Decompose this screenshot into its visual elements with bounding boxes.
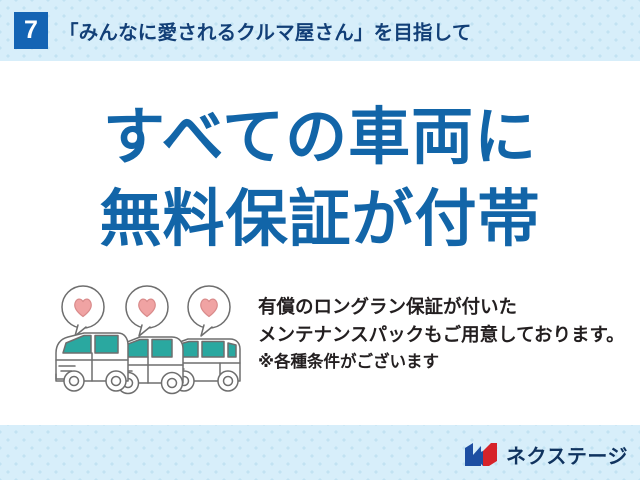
cars-svg: [48, 283, 248, 399]
hero-line-1: すべての車両に: [0, 97, 640, 179]
supporting-copy: 有償のロングラン保証が付いた メンテナンスパックもご用意しております。 ※各種条…: [258, 293, 630, 376]
brand-logo: ネクステージ: [464, 438, 628, 470]
hero-headline: すべての車両に 無料保証が付帯: [0, 97, 640, 261]
brand-name: ネクステージ: [506, 440, 628, 469]
feature-row: 有償のロングラン保証が付いた メンテナンスパックもご用意しております。 ※各種条…: [0, 283, 640, 403]
heart-speech-bubble-1: [62, 286, 104, 336]
copy-line-2: メンテナンスパックもご用意しております。: [258, 321, 630, 349]
copy-note: ※各種条件がございます: [258, 349, 630, 376]
header: 7 「みんなに愛されるクルマ屋さん」を目指して: [0, 0, 640, 61]
content-panel: すべての車両に 無料保証が付帯: [0, 61, 640, 425]
header-title: 「みんなに愛されるクルマ屋さん」を目指して: [59, 16, 472, 45]
nexstage-n-icon: [464, 442, 498, 467]
advertisement-banner: 7 「みんなに愛されるクルマ屋さん」を目指して すべての車両に 無料保証が付帯: [0, 0, 640, 480]
car-wagon-left: [56, 333, 128, 391]
three-cars-illustration: [48, 283, 248, 399]
heart-speech-bubble-3: [188, 286, 230, 336]
section-number-badge: 7: [14, 12, 48, 49]
hero-line-2: 無料保証が付帯: [0, 179, 640, 261]
heart-speech-bubble-2: [126, 286, 168, 336]
copy-line-1: 有償のロングラン保証が付いた: [258, 293, 630, 321]
